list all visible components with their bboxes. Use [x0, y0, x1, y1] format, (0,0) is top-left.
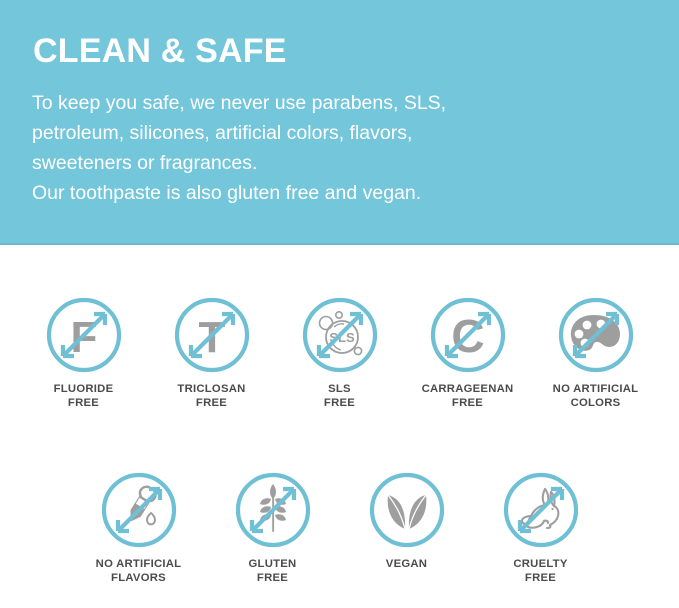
badge-grid: F FLUORIDE FREE T [0, 245, 679, 608]
badge-vegan: VEGAN [340, 470, 474, 585]
badge-label: GLUTEN FREE [249, 558, 297, 585]
vegan-leaves-icon [367, 470, 447, 550]
no-artificial-flavors-dropper-icon [99, 470, 179, 550]
badge-fluoride-free: F FLUORIDE FREE [20, 295, 148, 410]
badge-triclosan-free: T TRICLOSAN FREE [148, 295, 276, 410]
badge-label: CRUELTY FREE [513, 558, 567, 585]
badge-label: NO ARTIFICIAL COLORS [553, 383, 639, 410]
badge-cruelty-free: CRUELTY FREE [474, 470, 608, 585]
badge-label: VEGAN [386, 558, 427, 572]
badge-label: TRICLOSAN FREE [177, 383, 245, 410]
badge-label: CARRAGEENAN FREE [422, 383, 514, 410]
badge-row-2: NO ARTIFICIAL FLAVORS [0, 470, 679, 585]
badge-label: NO ARTIFICIAL FLAVORS [96, 558, 182, 585]
gluten-free-wheat-icon [233, 470, 313, 550]
badge-row-1: F FLUORIDE FREE T [0, 295, 679, 410]
badge-no-artificial-colors: NO ARTIFICIAL COLORS [532, 295, 660, 410]
no-fluoride-icon: F [44, 295, 124, 375]
header-description: To keep you safe, we never use parabens,… [32, 88, 632, 208]
no-triclosan-icon: T [172, 295, 252, 375]
badge-label: FLUORIDE FREE [54, 383, 114, 410]
no-sls-icon: SLS [300, 295, 380, 375]
header-banner: CLEAN & SAFE To keep you safe, we never … [0, 0, 679, 245]
badge-label: SLS FREE [324, 383, 355, 410]
badge-sls-free: SLS SLS FREE [276, 295, 404, 410]
badge-no-artificial-flavors: NO ARTIFICIAL FLAVORS [72, 470, 206, 585]
badge-gluten-free: GLUTEN FREE [206, 470, 340, 585]
cruelty-free-rabbit-icon [501, 470, 581, 550]
no-artificial-colors-palette-icon [556, 295, 636, 375]
no-carrageenan-icon: C [428, 295, 508, 375]
page-title: CLEAN & SAFE [33, 34, 287, 68]
badge-carrageenan-free: C CARRAGEENAN FREE [404, 295, 532, 410]
